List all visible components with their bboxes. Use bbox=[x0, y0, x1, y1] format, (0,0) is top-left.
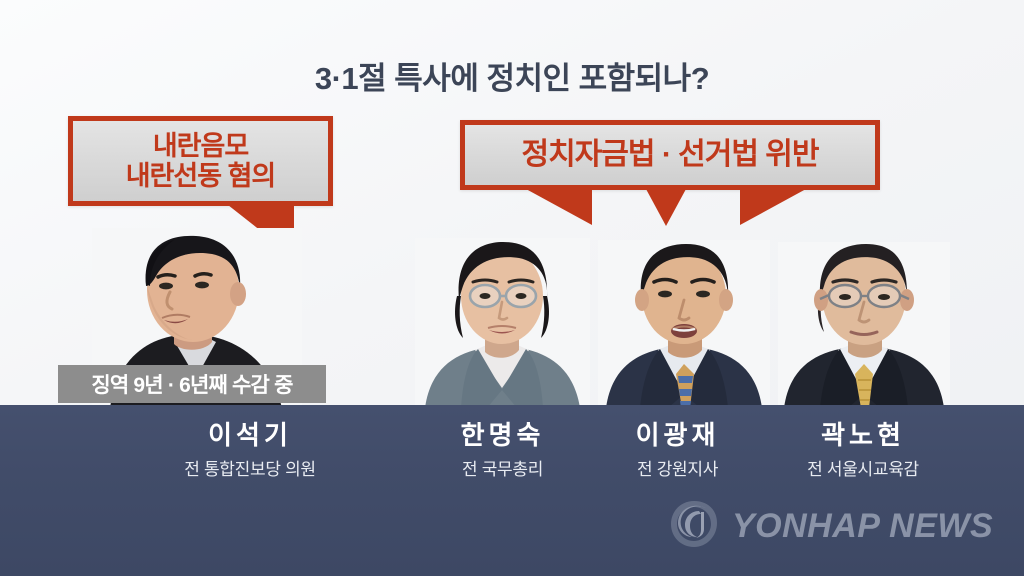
portrait-photo-3 bbox=[598, 240, 770, 408]
callout-right-tail-2 bbox=[646, 189, 686, 226]
callout-right-box: 정치자금법 · 선거법 위반 bbox=[460, 120, 880, 190]
yonhap-swirl-logo-icon bbox=[668, 498, 720, 555]
portrait-photo-2 bbox=[415, 238, 590, 408]
person-role-1: 전 통합진보당 의원 bbox=[100, 455, 400, 480]
callout-charge-left: 내란음모 내란선동 혐의 bbox=[68, 116, 333, 206]
infographic-canvas: 3·1절 특사에 정치인 포함되나? 내란음모 내란선동 혐의 정치자금법 · … bbox=[0, 0, 1024, 576]
person-label-4: 곽노현 전 서울시교육감 bbox=[748, 421, 978, 480]
person-name-4: 곽노현 bbox=[748, 421, 978, 450]
status-badge: 징역 9년 · 6년째 수감 중 bbox=[58, 365, 326, 403]
callout-left-box: 내란음모 내란선동 혐의 bbox=[68, 116, 333, 206]
callout-left-line-1: 내란음모 bbox=[153, 131, 248, 161]
portrait-photo-4 bbox=[778, 242, 950, 408]
callout-right-tail-1 bbox=[518, 189, 592, 225]
person-name-1: 이석기 bbox=[100, 421, 400, 450]
page-title: 3·1절 특사에 정치인 포함되나? bbox=[0, 53, 1024, 98]
callout-charge-right: 정치자금법 · 선거법 위반 bbox=[460, 120, 880, 190]
person-label-1: 이석기 전 통합진보당 의원 bbox=[100, 421, 400, 480]
callout-right-line-1: 정치자금법 · 선거법 위반 bbox=[522, 138, 819, 172]
watermark: YONHAP NEWS bbox=[668, 498, 993, 555]
person-role-4: 전 서울시교육감 bbox=[748, 455, 978, 480]
callout-left-line-2: 내란선동 혐의 bbox=[126, 161, 276, 191]
watermark-text: YONHAP NEWS bbox=[732, 507, 993, 546]
callout-right-tail-3 bbox=[740, 189, 814, 225]
